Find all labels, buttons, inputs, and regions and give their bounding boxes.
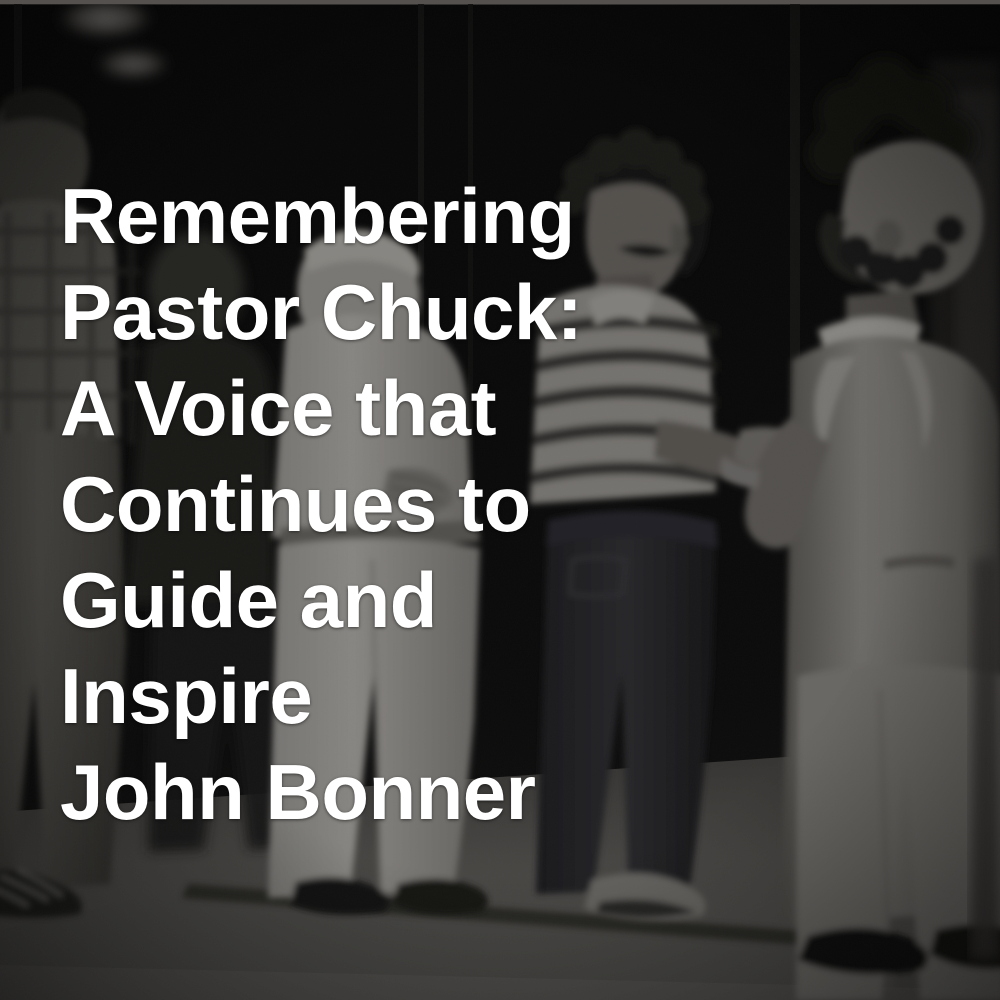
headline-line-4: Continues to	[60, 456, 660, 552]
headline-line-6: Inspire	[60, 648, 660, 744]
headline-line-2: Pastor Chuck:	[60, 264, 660, 360]
headline-line-5: Guide and	[60, 552, 660, 648]
top-edge-strip	[0, 0, 1000, 4]
headline-line-3: A Voice that	[60, 360, 660, 456]
byline-author: John Bonner	[60, 744, 660, 840]
headline-line-1: Remembering	[60, 168, 660, 264]
article-hero-card: Remembering Pastor Chuck: A Voice that C…	[0, 0, 1000, 1000]
hero-text-block: Remembering Pastor Chuck: A Voice that C…	[60, 168, 660, 840]
